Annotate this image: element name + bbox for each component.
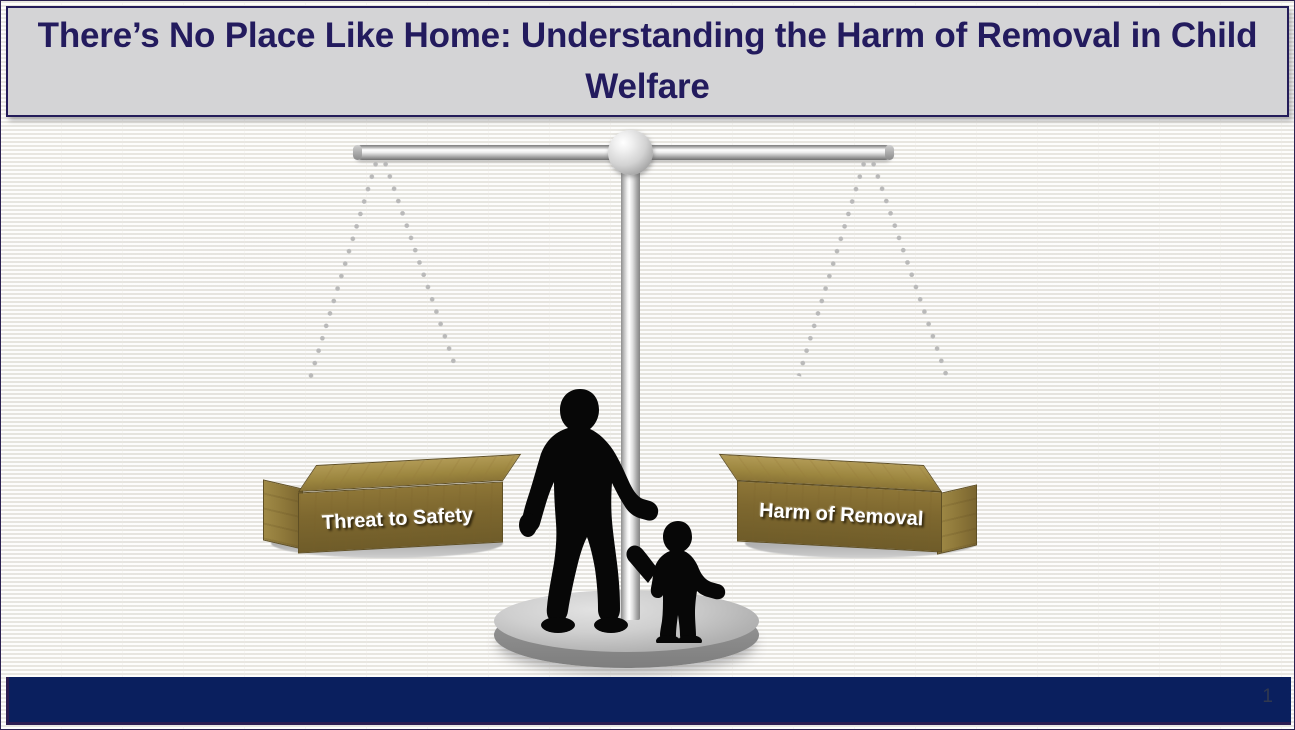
scale-beam-end-right: [885, 145, 894, 160]
right-pan-crate: Harm of Removal: [737, 466, 977, 548]
balance-scale-illustration: Threat to Safety Harm of Removal: [1, 118, 1295, 679]
right-crate-side-face: [937, 484, 977, 554]
parent-and-child-silhouettes: [506, 373, 746, 643]
slide: There’s No Place Like Home: Understandin…: [0, 0, 1295, 730]
chain-right-outer: [869, 157, 951, 382]
chain-left-inner: [381, 157, 459, 370]
adult-silhouette: [519, 389, 658, 633]
left-pan-crate: Threat to Safety: [263, 466, 503, 548]
title-bar: There’s No Place Like Home: Understandin…: [6, 6, 1289, 117]
page-title: There’s No Place Like Home: Understandin…: [8, 11, 1287, 113]
chain-left-outer: [307, 157, 380, 380]
left-crate-side-face: [263, 479, 303, 549]
scale-beam-end-left: [353, 145, 362, 160]
child-silhouette: [626, 521, 725, 643]
chain-right-inner: [796, 157, 867, 376]
footer-bar: 1: [6, 677, 1291, 725]
page-number: 1: [1262, 686, 1273, 708]
scale-pivot-sphere: [608, 130, 653, 175]
